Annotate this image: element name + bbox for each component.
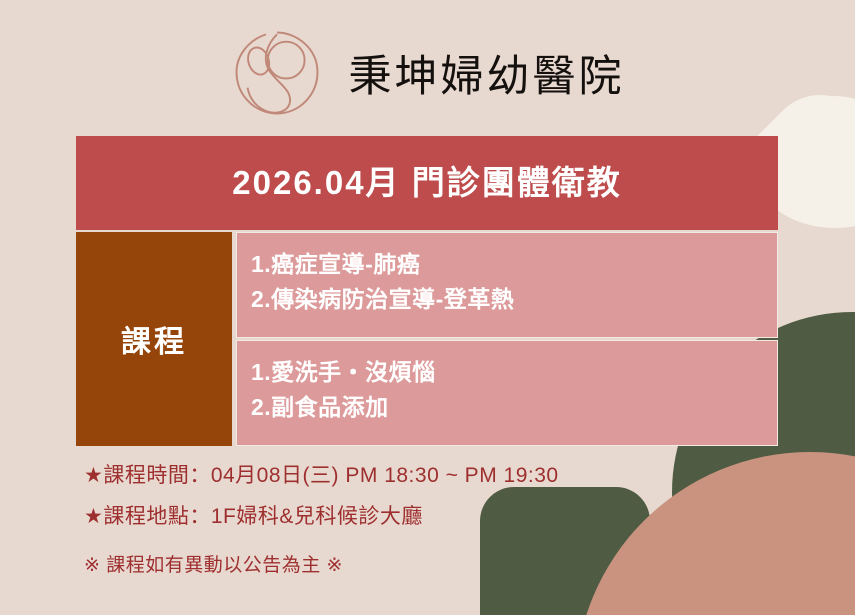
health-education-poster: 秉坤婦幼醫院 2026.04月 門診團體衛教 課程 1.癌症宣導-肺癌 2.傳染… [0,0,855,615]
schedule-table: 2026.04月 門診團體衛教 課程 1.癌症宣導-肺癌 2.傳染病防治宣導-登… [76,136,778,446]
course-cell-group: 1.癌症宣導-肺癌 2.傳染病防治宣導-登革熱 1.愛洗手・沒煩惱 2.副食品添… [236,232,778,446]
table-body: 課程 1.癌症宣導-肺癌 2.傳染病防治宣導-登革熱 1.愛洗手・沒煩惱 2.副… [76,232,778,446]
course-item: 2.副食品添加 [251,390,777,425]
table-row: 1.愛洗手・沒煩惱 2.副食品添加 [236,340,778,446]
note-disclaimer: ※ 課程如有異動以公告為主 ※ [84,547,559,584]
footer-notes: ★課程時間：04月08日(三) PM 18:30 ~ PM 19:30 ★課程地… [84,456,559,584]
course-item: 1.愛洗手・沒煩惱 [251,355,777,390]
course-item: 1.癌症宣導-肺癌 [251,247,777,282]
course-item: 2.傳染病防治宣導-登革熱 [251,282,777,317]
poster-header: 秉坤婦幼醫院 [0,18,855,128]
table-row: 1.癌症宣導-肺癌 2.傳染病防治宣導-登革熱 [236,232,778,338]
row-label-course: 課程 [76,232,232,446]
table-title-banner: 2026.04月 門診團體衛教 [76,136,778,230]
note-course-location: ★課程地點：1F婦科&兒科候診大廳 [84,497,559,538]
note-course-time: ★課程時間：04月08日(三) PM 18:30 ~ PM 19:30 [84,456,559,497]
hospital-name: 秉坤婦幼醫院 [349,42,625,104]
mother-and-child-logo-icon [231,27,323,119]
